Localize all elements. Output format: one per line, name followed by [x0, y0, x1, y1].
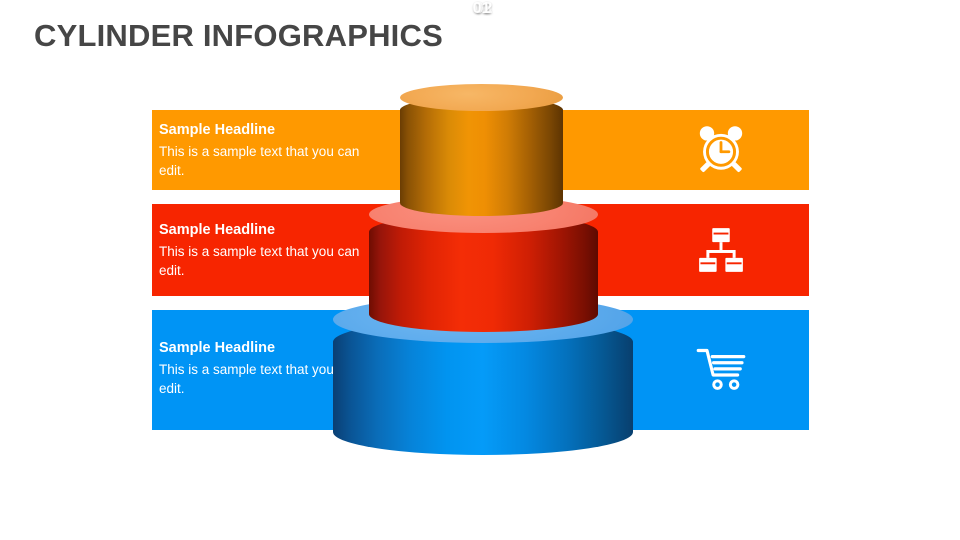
- band-headline-01: Sample Headline: [159, 121, 379, 140]
- shopping-cart-icon: [693, 340, 749, 396]
- cylinder-number-01: 01: [400, 0, 563, 18]
- slide-canvas: CYLINDER INFOGRAPHICS Sample Headline Th…: [0, 0, 960, 540]
- alarm-clock-icon: [693, 122, 749, 178]
- org-chart-icon: [693, 222, 749, 278]
- page-title: CYLINDER INFOGRAPHICS: [34, 18, 443, 54]
- cylinder-01[interactable]: [400, 84, 563, 216]
- band-text-block-01: Sample Headline This is a sample text th…: [159, 121, 379, 180]
- band-body-01: This is a sample text that you can edit.: [159, 142, 379, 180]
- cylinder-body-01: [400, 97, 563, 216]
- band-body-02: This is a sample text that you can edit.: [159, 242, 379, 280]
- cylinder-02[interactable]: [369, 196, 598, 332]
- cylinder-top-ellipse-01: [400, 84, 563, 111]
- band-text-block-02: Sample Headline This is a sample text th…: [159, 221, 379, 280]
- band-headline-02: Sample Headline: [159, 221, 379, 240]
